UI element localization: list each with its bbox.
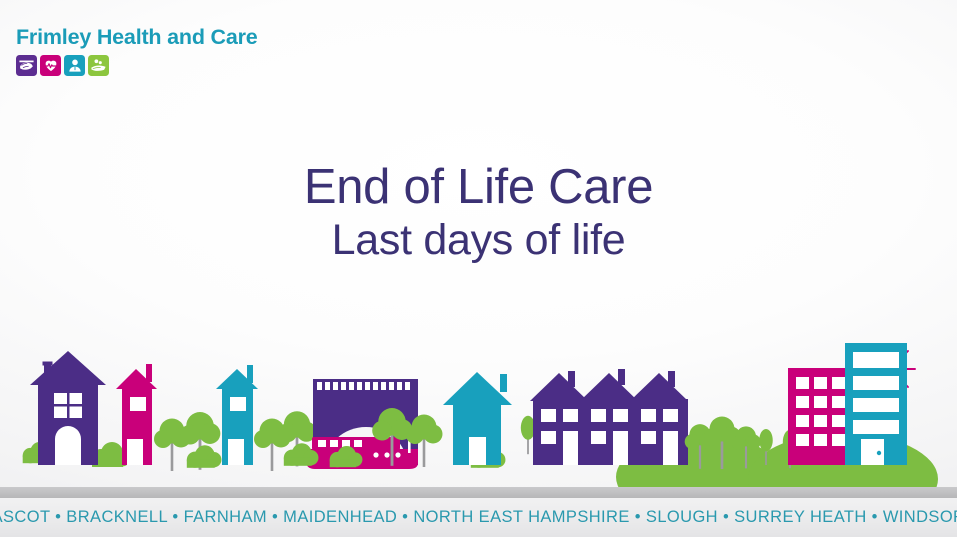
caring-hands-icon: [16, 55, 37, 76]
footer-places-list: ASCOT • BRACKNELL • FARNHAM • MAIDENHEAD…: [0, 508, 957, 527]
slide-subtitle: Last days of life: [0, 215, 957, 267]
brand-title: Frimley Health and Care: [16, 26, 376, 49]
clinician-person-icon: [64, 55, 85, 76]
slide-title: End of Life Care: [0, 160, 957, 215]
brand-logo: Frimley Health and Care: [16, 26, 376, 76]
purple-terraced-houses: [530, 369, 688, 465]
frimley-townscape-illustration: [0, 327, 957, 487]
small-magenta-house: [116, 364, 157, 465]
slide: Frimley Health and Care: [0, 0, 957, 537]
heart-pulse-icon: [40, 55, 61, 76]
brand-icon-row: [16, 55, 376, 76]
hand-coins-icon: [88, 55, 109, 76]
detached-purple-house: [23, 351, 131, 467]
ground-strip: [0, 487, 957, 498]
slide-title-block: End of Life Care Last days of life: [0, 160, 957, 266]
teal-house: [443, 372, 512, 468]
footer-band: ASCOT • BRACKNELL • FARNHAM • MAIDENHEAD…: [0, 498, 957, 537]
teal-tower-building: [845, 343, 907, 465]
